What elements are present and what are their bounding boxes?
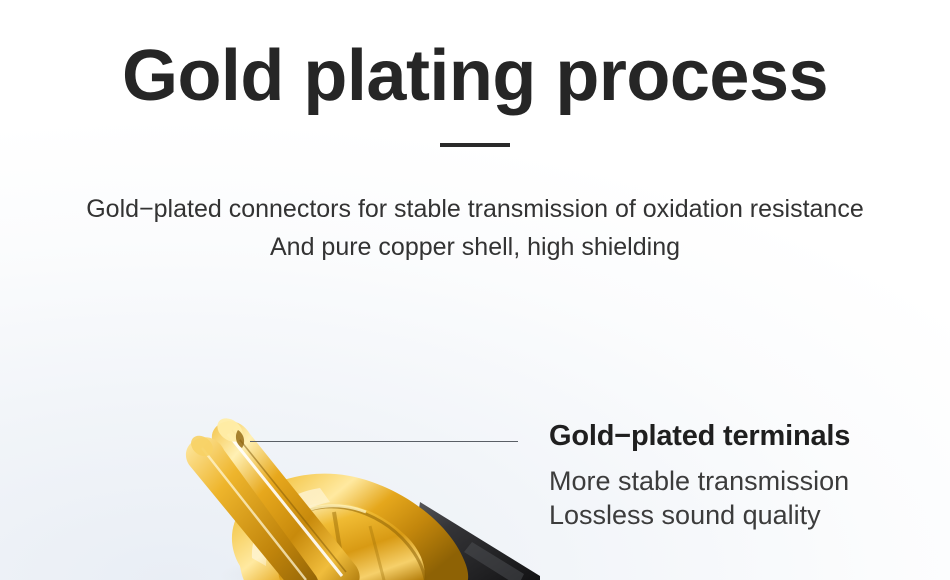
page-title: Gold plating process (0, 40, 950, 113)
subtitle-block: Gold−plated connectors for stable transm… (0, 190, 950, 266)
callout-leader-line (250, 441, 518, 442)
callout-body: More stable transmission Lossless sound … (549, 464, 929, 532)
callout-line-2: Lossless sound quality (549, 498, 929, 532)
callout-block: Gold−plated terminals More stable transm… (549, 419, 929, 532)
product-feature-banner: Gold plating process Gold−plated connect… (0, 0, 950, 580)
subtitle-line-2: And pure copper shell, high shielding (0, 228, 950, 266)
title-divider (440, 143, 510, 147)
subtitle-line-1: Gold−plated connectors for stable transm… (0, 190, 950, 228)
callout-heading: Gold−plated terminals (549, 419, 929, 453)
callout-line-1: More stable transmission (549, 464, 929, 498)
